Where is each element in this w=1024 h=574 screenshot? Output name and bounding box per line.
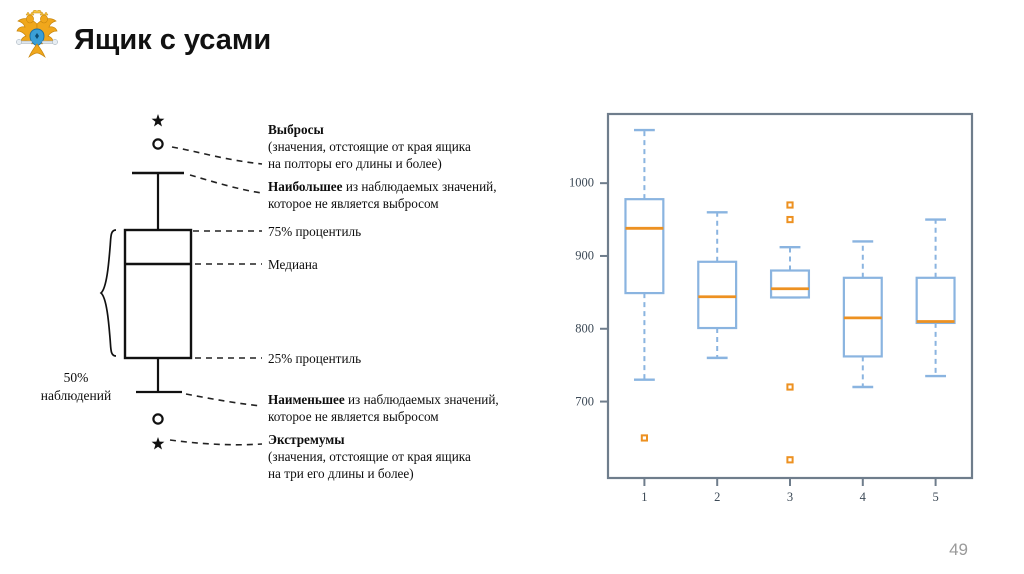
callout-outliers-line1: (значения, отстоящие от края ящика <box>268 139 471 154</box>
callout-min-non-outlier: Наименьшее из наблюдаемых значений, кото… <box>268 392 499 426</box>
box-iqr <box>625 199 663 293</box>
x-axis-tick-label: 2 <box>705 490 729 505</box>
boxplot-anatomy-diagram: 50% наблюдений Выбросы (значения, отстоя… <box>0 92 560 492</box>
y-axis-tick-label: 1000 <box>554 176 594 191</box>
callout-outliers-title: Выбросы <box>268 122 324 137</box>
page-number: 49 <box>949 540 968 560</box>
callout-outliers: Выбросы (значения, отстоящие от края ящи… <box>268 122 471 173</box>
callout-median: Медиана <box>268 257 318 274</box>
x-axis-tick-label: 1 <box>632 490 656 505</box>
x-axis-tick-label: 4 <box>851 490 875 505</box>
y-axis-tick-label: 900 <box>554 248 594 263</box>
y-axis-tick-label: 700 <box>554 394 594 409</box>
leader-min-non-outlier <box>186 394 262 406</box>
callout-max-line2: которое не является выбросом <box>268 196 439 211</box>
box-iqr <box>698 262 736 328</box>
callout-median-text: Медиана <box>268 257 318 272</box>
box-iqr <box>771 271 809 298</box>
callout-percentile-75-text: 75% процентиль <box>268 224 361 239</box>
leader-extremes <box>170 440 262 445</box>
y-axis-tick-label: 800 <box>554 321 594 336</box>
callout-extremes: Экстремумы (значения, отстоящие от края … <box>268 432 471 483</box>
callout-extremes-line2: на три его длины и более) <box>268 466 414 481</box>
callout-extremes-title: Экстремумы <box>268 432 345 447</box>
page-title: Ящик с усами <box>74 24 271 57</box>
callout-min-line2: которое не является выбросом <box>268 409 439 424</box>
callout-extremes-line1: (значения, отстоящие от края ящика <box>268 449 471 464</box>
boxplot-chart-svg <box>560 92 990 502</box>
outlier-circle-top <box>153 139 162 148</box>
callout-outliers-line2: на полторы его длины и более) <box>268 156 442 171</box>
box-iqr <box>125 230 191 358</box>
callout-min-title: Наименьшее <box>268 392 345 407</box>
iqr-brace <box>101 230 116 356</box>
extreme-star-top <box>152 114 165 127</box>
callout-max-title: Наибольшее <box>268 179 343 194</box>
box-iqr <box>917 278 955 323</box>
russian-coat-of-arms-icon <box>14 10 60 60</box>
iqr-brace-label-percent: 50% <box>64 370 89 385</box>
callout-min-rest: из наблюдаемых значений, <box>345 392 499 407</box>
extreme-star-bottom <box>152 437 165 450</box>
callout-max-non-outlier: Наибольшее из наблюдаемых значений, кото… <box>268 179 497 213</box>
x-axis-tick-label: 5 <box>924 490 948 505</box>
iqr-brace-label: 50% наблюдений <box>28 369 124 404</box>
x-axis-tick-label: 3 <box>778 490 802 505</box>
outlier-circle-bottom <box>153 414 162 423</box>
callout-percentile-75: 75% процентиль <box>268 224 361 241</box>
callout-percentile-25-text: 25% процентиль <box>268 351 361 366</box>
slide: Ящик с усами <box>0 0 1024 574</box>
leader-max-non-outlier <box>190 175 262 193</box>
callout-percentile-25: 25% процентиль <box>268 351 361 368</box>
leader-outliers <box>172 147 262 164</box>
iqr-brace-label-word: наблюдений <box>41 388 111 403</box>
boxplot-chart: 700800900100012345 <box>560 92 990 502</box>
callout-max-rest: из наблюдаемых значений, <box>343 179 497 194</box>
